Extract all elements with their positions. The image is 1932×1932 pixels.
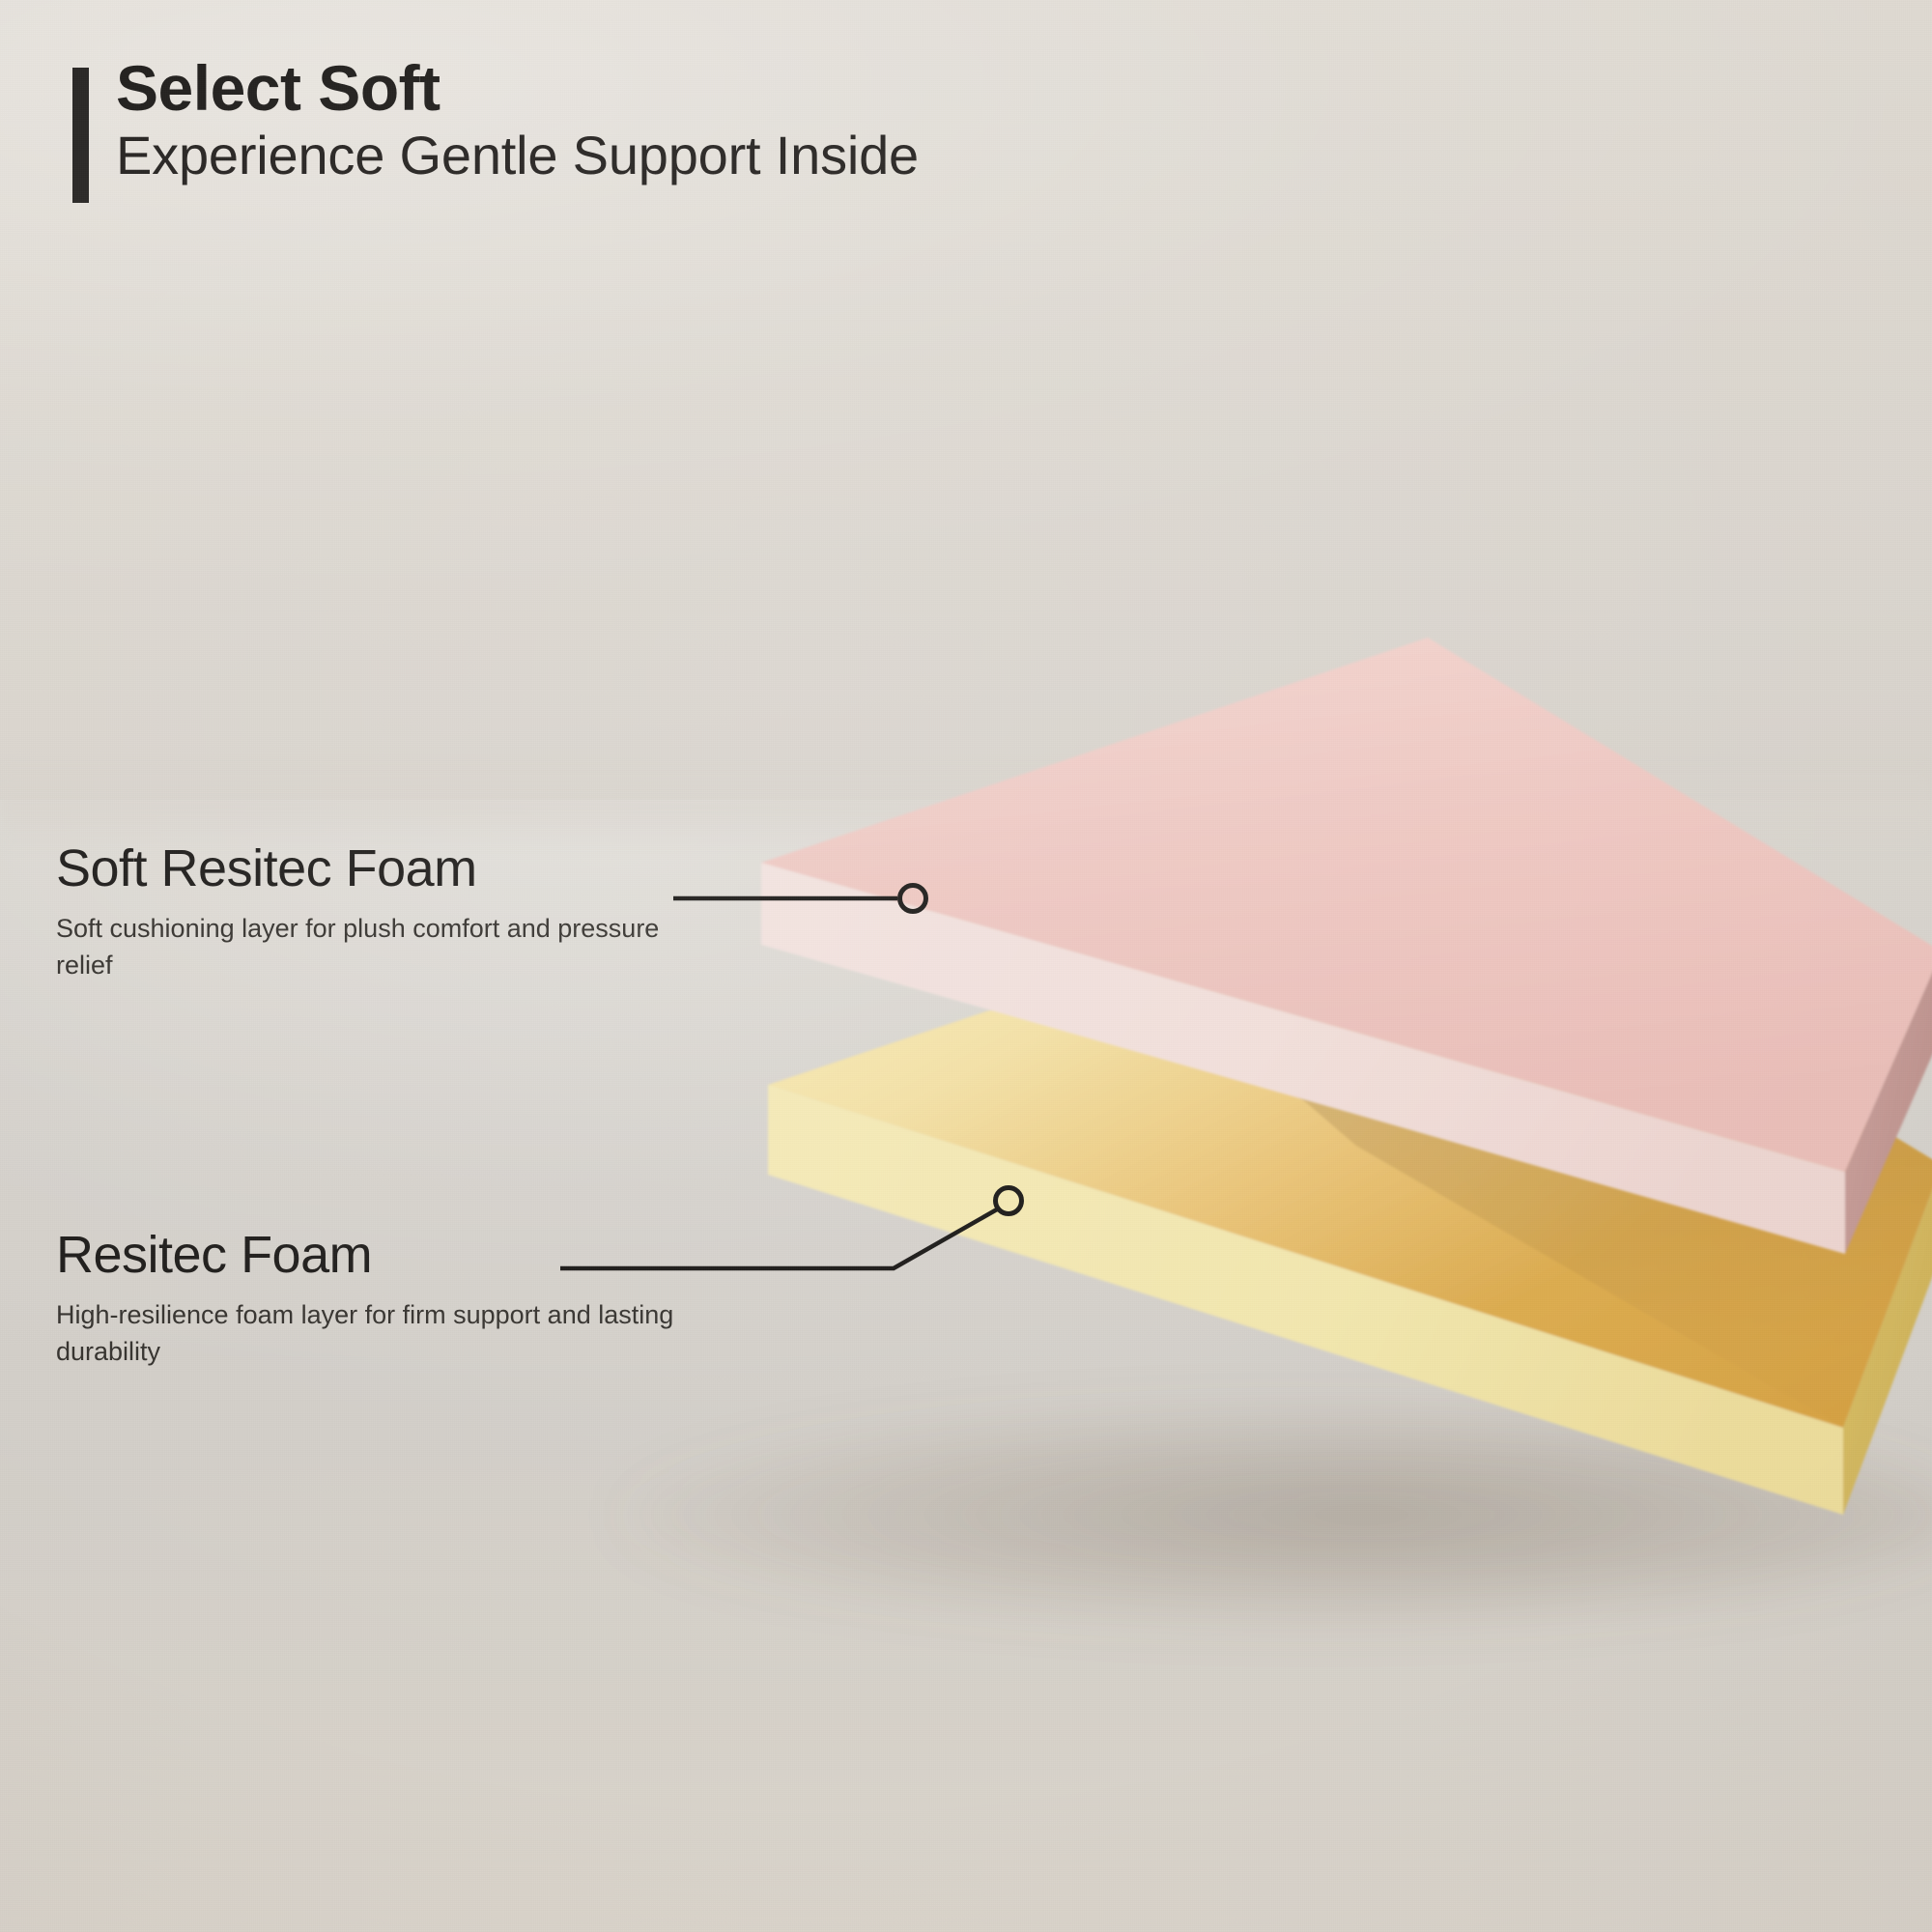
page-title: Select Soft bbox=[116, 56, 1425, 120]
callout-description-soft-resitec: Soft cushioning layer for plush comfort … bbox=[56, 910, 713, 984]
product-layer-diagram: Select Soft Experience Gentle Support In… bbox=[0, 0, 1932, 1932]
page-subtitle: Experience Gentle Support Inside bbox=[116, 128, 1425, 185]
callout-title-resitec: Resitec Foam bbox=[56, 1229, 713, 1281]
accent-bar bbox=[72, 68, 89, 203]
callout-description-resitec: High-resilience foam layer for firm supp… bbox=[56, 1296, 713, 1371]
title-block: Select Soft Experience Gentle Support In… bbox=[72, 56, 1425, 185]
callout-resitec-foam: Resitec Foam High-resilience foam layer … bbox=[56, 1229, 713, 1371]
callout-title-soft-resitec: Soft Resitec Foam bbox=[56, 842, 713, 895]
header-block: Select Soft Experience Gentle Support In… bbox=[72, 56, 1425, 185]
callout-soft-resitec-foam: Soft Resitec Foam Soft cushioning layer … bbox=[56, 842, 713, 984]
